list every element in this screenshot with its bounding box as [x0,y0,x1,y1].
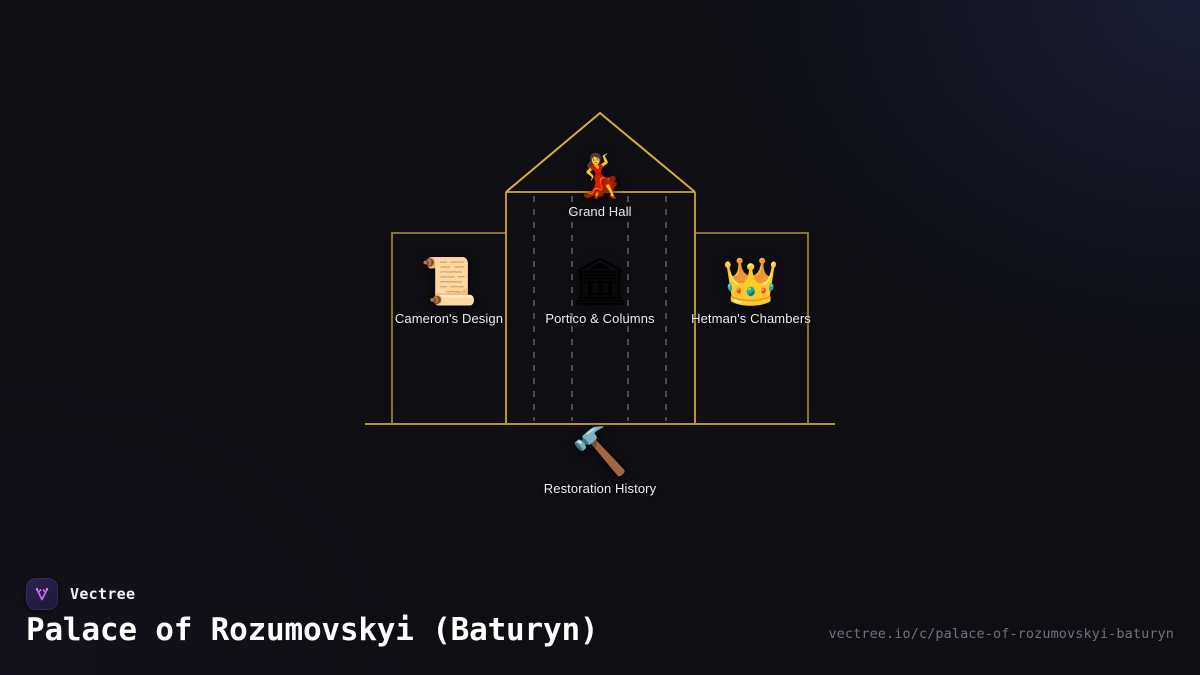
brand-row[interactable]: Vectree [26,578,135,610]
vectree-glyph [32,584,52,604]
node-restoration-history[interactable]: 🔨 Restoration History [485,428,715,496]
brand-name: Vectree [70,585,135,603]
node-label: Grand Hall [485,204,715,219]
node-grand-hall[interactable]: 💃 Grand Hall [485,155,715,219]
screenshot-root: 💃 Grand Hall 📜 Cameron's Design 🏛 Portic… [0,0,1200,675]
page-title: Palace of Rozumovskyi (Baturyn) [26,612,598,648]
node-label: Restoration History [485,481,715,496]
dancer-icon: 💃 [485,155,715,197]
node-hetmans-chambers[interactable]: 👑 Hetman's Chambers [636,258,866,326]
footer-bar: Vectree Palace of Rozumovskyi (Baturyn) … [0,560,1200,675]
vectree-logo-icon[interactable] [26,578,58,610]
crown-icon: 👑 [636,258,866,304]
hammer-icon: 🔨 [485,428,715,474]
page-url: vectree.io/c/palace-of-rozumovskyi-batur… [828,626,1174,642]
node-label: Hetman's Chambers [636,311,866,326]
